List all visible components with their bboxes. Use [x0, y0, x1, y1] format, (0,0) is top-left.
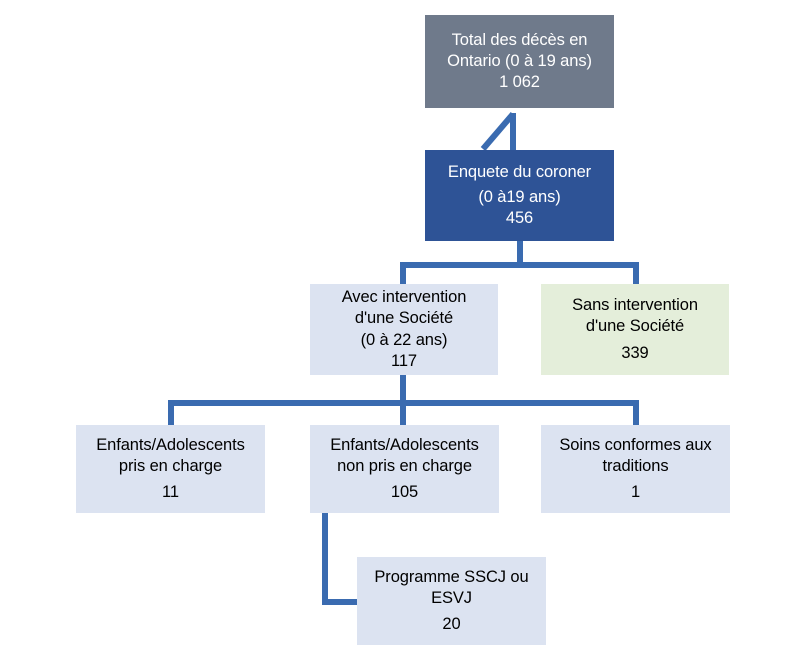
- node-sans-intervention-line-1: Sans intervention: [572, 295, 698, 316]
- node-soins-traditions-value: 1: [631, 482, 640, 503]
- connector-to-avec-intervention: [400, 262, 406, 284]
- node-non-pris-en-charge-value: 105: [391, 482, 418, 503]
- node-non-pris-en-charge-line-1: Enfants/Adolescents: [330, 435, 479, 456]
- node-programme-sscj[interactable]: Programme SSCJ ou ESVJ 20: [357, 557, 546, 645]
- node-pris-en-charge-value: 11: [162, 482, 179, 503]
- node-avec-intervention-value: 117: [391, 351, 417, 372]
- connector-to-non-pris-en-charge: [400, 400, 406, 425]
- connector-row3-bar: [400, 262, 639, 268]
- connector-to-pris-en-charge: [168, 400, 174, 425]
- node-enquete-coroner[interactable]: Enquete du coroner (0 à19 ans) 456: [425, 150, 614, 241]
- node-total-deces-value: 1 062: [499, 72, 540, 93]
- node-sans-intervention[interactable]: Sans intervention d'une Société 339: [541, 284, 729, 375]
- node-avec-intervention-line-3: (0 à 22 ans): [361, 330, 448, 351]
- node-programme-sscj-line-1: Programme SSCJ ou: [374, 567, 528, 588]
- connector-to-soins-traditions: [633, 400, 639, 425]
- node-total-deces[interactable]: Total des décès en Ontario (0 à 19 ans) …: [425, 15, 614, 108]
- node-total-deces-line-1: Total des décès en: [452, 30, 588, 51]
- connector-to-sans-intervention: [633, 262, 639, 284]
- connector-avec-intervention-stem: [400, 375, 406, 403]
- node-enquete-coroner-line-1: Enquete du coroner: [448, 162, 591, 183]
- node-soins-traditions-line-1: Soins conformes aux: [559, 435, 711, 456]
- node-pris-en-charge-line-1: Enfants/Adolescents: [96, 435, 245, 456]
- connector-programme-elbow-horizontal: [322, 599, 358, 605]
- node-sans-intervention-value: 339: [621, 343, 648, 364]
- node-enquete-coroner-line-2: (0 à19 ans): [478, 187, 560, 208]
- node-soins-traditions[interactable]: Soins conformes aux traditions 1: [541, 425, 730, 513]
- node-total-deces-line-2: Ontario (0 à 19 ans): [447, 51, 592, 72]
- node-enquete-coroner-value: 456: [506, 208, 533, 229]
- node-non-pris-en-charge[interactable]: Enfants/Adolescents non pris en charge 1…: [310, 425, 499, 513]
- node-programme-sscj-value: 20: [442, 614, 460, 635]
- node-soins-traditions-line-2: traditions: [603, 456, 669, 477]
- node-programme-sscj-line-2: ESVJ: [431, 588, 472, 609]
- node-sans-intervention-line-2: d'une Société: [586, 316, 684, 337]
- flowchart-canvas: Total des décès en Ontario (0 à 19 ans) …: [0, 0, 800, 657]
- node-avec-intervention-line-1: Avec intervention: [342, 287, 467, 308]
- connector-programme-elbow-vertical: [322, 513, 328, 605]
- node-non-pris-en-charge-line-2: non pris en charge: [337, 456, 472, 477]
- node-avec-intervention[interactable]: Avec intervention d'une Société (0 à 22 …: [310, 284, 498, 375]
- node-pris-en-charge-line-2: pris en charge: [119, 456, 222, 477]
- node-avec-intervention-line-2: d'une Société: [355, 308, 453, 329]
- node-pris-en-charge[interactable]: Enfants/Adolescents pris en charge 11: [76, 425, 265, 513]
